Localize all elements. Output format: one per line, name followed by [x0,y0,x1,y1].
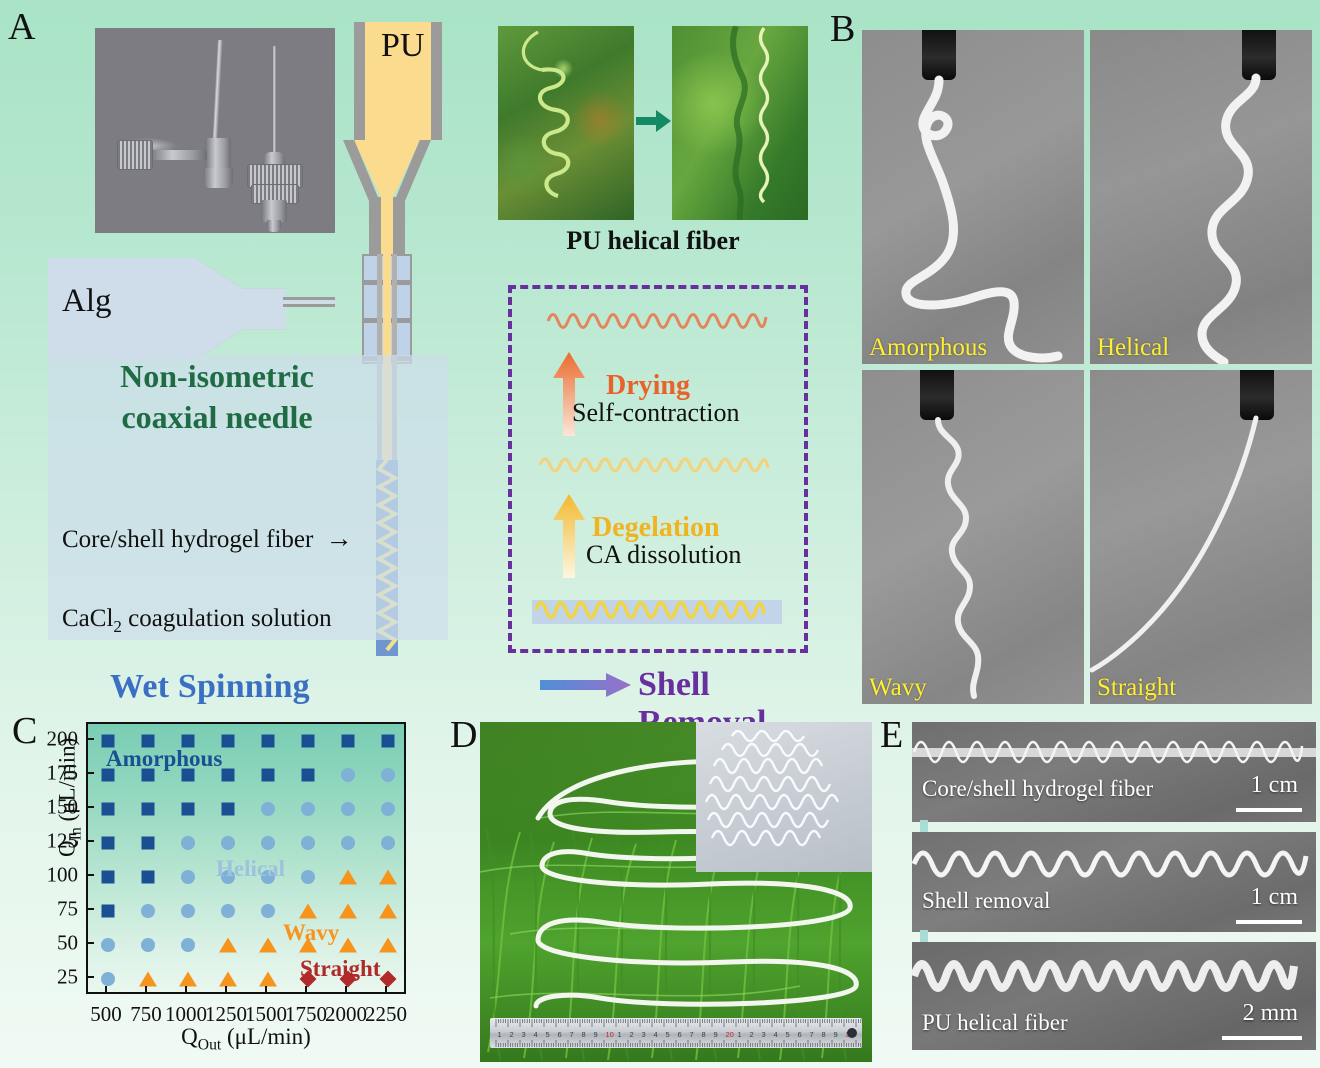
panel-d: D [452,712,872,1062]
panel-c-letter: C [12,712,37,750]
shell-removed-fiber-image [912,832,1316,932]
self-contraction-label: Self-contraction [572,398,740,428]
y-tick-mark [87,874,94,876]
fiber-photo-wavy: Wavy [862,370,1084,704]
data-point-amorphous [102,905,115,918]
svg-text:5: 5 [786,1030,790,1039]
fiber-photo-label: Helical [1097,334,1169,362]
data-point-amorphous [342,735,355,748]
panel-a-letter: A [8,8,35,46]
data-point-wavy [179,972,197,987]
x-tick-mark [185,986,187,993]
svg-text:4: 4 [534,1030,538,1039]
data-point-amorphous [102,803,115,816]
data-point-amorphous [222,735,235,748]
panel-e-letter: E [880,716,903,754]
data-point-helical [381,836,395,850]
data-point-helical [181,870,195,884]
y-tick-label: 25 [57,965,78,990]
panel-e-row-pu-helical: PU helical fiber 2 mm [912,942,1316,1050]
panel-a: A [0,0,828,706]
svg-text:7: 7 [570,1030,574,1039]
wet-spinning-label: Wet Spinning [110,668,310,706]
svg-text:2: 2 [630,1030,634,1039]
svg-text:7: 7 [690,1030,694,1039]
right-arrow-icon: → [320,523,353,553]
y-axis-label: QIn (μL/min) [55,697,86,897]
data-point-wavy [219,972,237,987]
data-point-amorphous [222,803,235,816]
x-tick-mark [305,986,307,993]
data-point-helical [181,836,195,850]
ca-dissolution-label: CA dissolution [586,540,741,570]
data-point-wavy [379,870,397,885]
svg-text:20: 20 [726,1030,734,1039]
data-point-amorphous [302,735,315,748]
svg-text:1: 1 [498,1030,502,1039]
fiber-photo-label: Straight [1097,674,1176,702]
data-point-amorphous [182,803,195,816]
data-point-wavy [379,938,397,953]
data-point-wavy [139,972,157,987]
annotation-helical: Helical [216,856,285,882]
x-tick-mark [105,986,107,993]
data-point-helical [381,802,395,816]
coiled-fiber-mass-inset-photo [696,722,872,872]
data-point-helical [341,768,355,782]
fiber-photo-label: Amorphous [869,334,987,362]
svg-text:1: 1 [738,1030,742,1039]
svg-text:8: 8 [582,1030,586,1039]
data-point-helical [261,836,275,850]
x-tick-mark [345,986,347,993]
data-point-amorphous [262,769,275,782]
data-point-amorphous [102,837,115,850]
fiber-photo-helical: Helical [1090,30,1312,364]
svg-text:4: 4 [654,1030,658,1039]
degelation-arrow-icon [552,494,586,578]
svg-text:10: 10 [606,1030,614,1039]
data-point-helical [221,836,235,850]
pu-reservoir-label: PU [381,27,424,65]
svg-text:9: 9 [594,1030,598,1039]
svg-text:2: 2 [510,1030,514,1039]
alginate-feed-tube [283,297,335,307]
svg-text:7: 7 [810,1030,814,1039]
data-point-helical [341,836,355,850]
helical-fiber-on-grass-photo: 123456789101234567892012345678930 [480,722,872,1062]
panel-e-scale-text: 1 cm [1251,772,1298,799]
data-point-amorphous [142,871,155,884]
y-tick-mark [87,772,94,774]
fiber-photo-straight: Straight [1090,370,1312,704]
panel-e-row-shell-removal: Shell removal 1 cm [912,832,1316,932]
steel-ruler: 123456789101234567892012345678930 [490,1018,862,1048]
panel-e-row-label: PU helical fiber [922,1010,1068,1036]
panel-e-scale-bar [1236,920,1302,924]
data-point-amorphous [222,769,235,782]
svg-text:3: 3 [762,1030,766,1039]
svg-text:5: 5 [666,1030,670,1039]
shell-removal-arrow-icon [540,672,632,698]
data-point-helical [261,904,275,918]
cacl2-solution-label: CaCl2 coagulation solution [62,605,332,637]
x-tick-mark [225,986,227,993]
alg-reservoir-label: Alg [62,283,112,320]
svg-text:3: 3 [522,1030,526,1039]
coaxial-needle-photo [95,28,335,233]
svg-text:4: 4 [774,1030,778,1039]
data-point-amorphous [102,871,115,884]
data-point-wavy [259,938,277,953]
y-tick-label: 50 [57,931,78,956]
panel-e-scale-text: 1 cm [1251,884,1298,911]
degelled-helical-fiber-glyph [538,450,778,480]
data-point-helical [181,904,195,918]
data-point-amorphous [302,769,315,782]
panel-e-row-label: Core/shell hydrogel fiber [922,776,1153,802]
data-point-helical [141,938,155,952]
panel-d-letter: D [450,716,477,754]
svg-text:8: 8 [822,1030,826,1039]
panel-e-scale-bar [1222,1036,1302,1040]
panel-e-row-core-shell: Core/shell hydrogel fiber 1 cm [912,722,1316,822]
y-tick-mark [87,738,94,740]
hydrogel-helical-fiber-glyph [534,592,780,628]
y-tick-mark [87,840,94,842]
data-point-amorphous [262,735,275,748]
x-tick-mark [385,986,387,993]
data-point-straight [380,971,397,988]
data-point-amorphous [142,803,155,816]
svg-text:1: 1 [618,1030,622,1039]
data-point-wavy [379,904,397,919]
plant-tendril-photo [498,26,634,220]
svg-text:6: 6 [798,1030,802,1039]
x-tick-mark [265,986,267,993]
pu-helical-fiber-caption: PU helical fiber [498,226,808,256]
svg-text:9: 9 [834,1030,838,1039]
data-point-wavy [259,972,277,987]
data-point-helical [101,938,115,952]
data-point-wavy [339,938,357,953]
y-tick-mark [87,942,94,944]
y-tick-mark [87,976,94,978]
phase-diagram-plot: AmorphousHelicalWavyStraight [86,722,406,994]
data-point-wavy [339,870,357,885]
annotation-straight: Straight [300,956,381,982]
svg-text:2: 2 [750,1030,754,1039]
y-tick-mark [87,908,94,910]
data-point-helical [101,972,115,986]
svg-text:6: 6 [558,1030,562,1039]
svg-text:6: 6 [678,1030,682,1039]
panel-e-scale-text: 2 mm [1243,1000,1298,1027]
data-point-amorphous [382,735,395,748]
dried-helical-fiber-glyph [546,305,774,337]
y-tick-label: 75 [57,897,78,922]
y-tick-mark [87,806,94,808]
panel-e: E Core/shell hydrogel fiber 1 cm Shell r… [882,712,1320,1062]
svg-text:9: 9 [714,1030,718,1039]
x-tick-mark [145,986,147,993]
transition-arrow-icon [636,108,672,134]
data-point-helical [221,904,235,918]
data-point-wavy [219,938,237,953]
plant-leaf-helix-photo [672,26,808,220]
svg-text:8: 8 [702,1030,706,1039]
x-axis-label: QOut (μL/min) [86,1024,406,1055]
svg-text:5: 5 [546,1030,550,1039]
panel-e-scale-bar [1236,808,1302,812]
needle-title-line-2: coaxial needle [52,397,382,438]
data-point-amorphous [142,837,155,850]
non-isometric-coaxial-needle-title: Non-isometric coaxial needle [52,356,382,438]
data-point-helical [301,870,315,884]
data-point-wavy [299,904,317,919]
data-point-helical [381,768,395,782]
panel-b-letter: B [830,10,855,48]
panel-b: B Amorphous Helical Wavy [862,16,1312,692]
annotation-amorphous: Amorphous [106,746,222,772]
svg-text:3: 3 [642,1030,646,1039]
data-point-helical [301,836,315,850]
data-point-helical [141,904,155,918]
panel-c: C AmorphousHelicalWavyStraight 255075100… [12,712,442,1062]
figure-root: A [0,0,1320,1068]
data-point-helical [261,802,275,816]
fiber-photo-label: Wavy [869,674,927,702]
panel-e-row-label: Shell removal [922,888,1050,914]
data-point-helical [181,938,195,952]
annotation-wavy: Wavy [283,920,339,946]
fiber-photo-amorphous: Amorphous [862,30,1084,364]
core-shell-fiber-label: Core/shell hydrogel fiber → [62,523,353,554]
data-point-helical [341,802,355,816]
data-point-wavy [339,904,357,919]
data-point-helical [301,802,315,816]
needle-title-line-1: Non-isometric [52,356,382,397]
